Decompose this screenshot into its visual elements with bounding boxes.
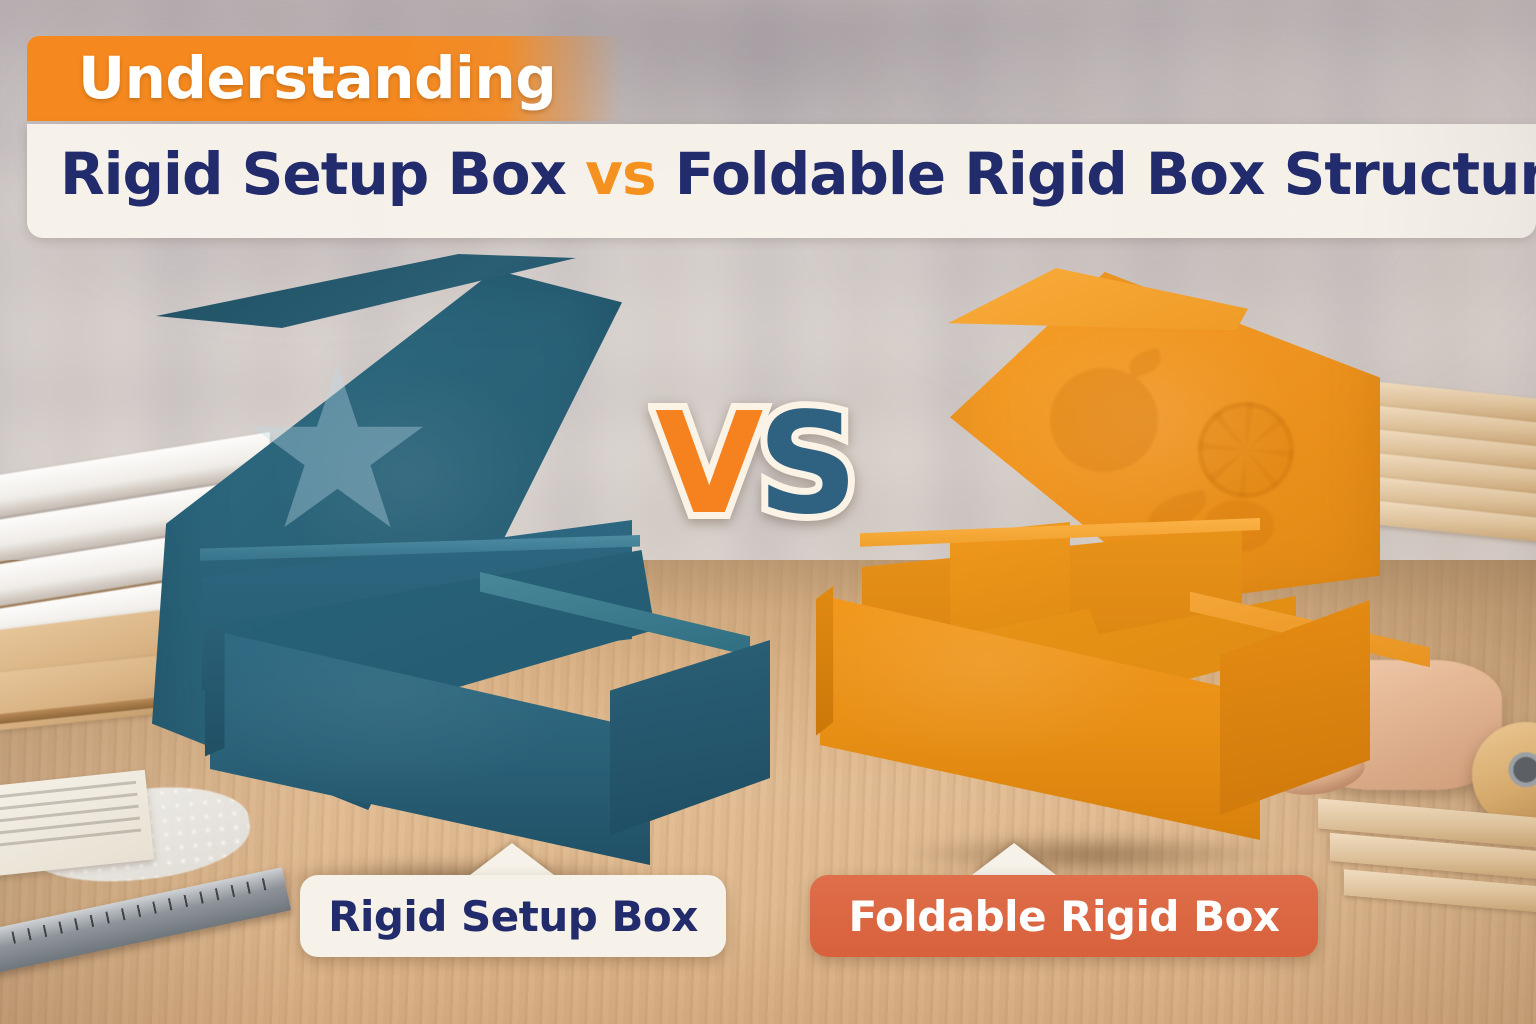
left-label-pointer [470,843,554,875]
page-title-vs: vs [585,140,655,208]
rigid-setup-box-product [150,250,770,870]
versus-badge: VS [655,395,852,535]
page-title-part2: Foldable Rigid Box Structures [656,140,1536,208]
versus-badge-v: V [655,383,757,546]
left-product-label[interactable]: Rigid Setup Box [300,875,726,957]
versus-badge-s: S [757,383,852,546]
page-title-part1: Rigid Setup Box [60,140,585,208]
right-product-label[interactable]: Foldable Rigid Box [810,875,1318,957]
citrus-slice-icon [1198,402,1294,498]
infographic-canvas: VS Understanding Rigid Setup Box vs Fold… [0,0,1536,1024]
foldable-rigid-box-product [800,250,1450,870]
page-title: Rigid Setup Box vs Foldable Rigid Box St… [60,140,1536,208]
orange-fruit-icon [1050,368,1158,472]
right-label-pointer [972,843,1056,875]
header-eyebrow-text: Understanding [78,44,556,112]
document-text-lines [0,781,141,854]
